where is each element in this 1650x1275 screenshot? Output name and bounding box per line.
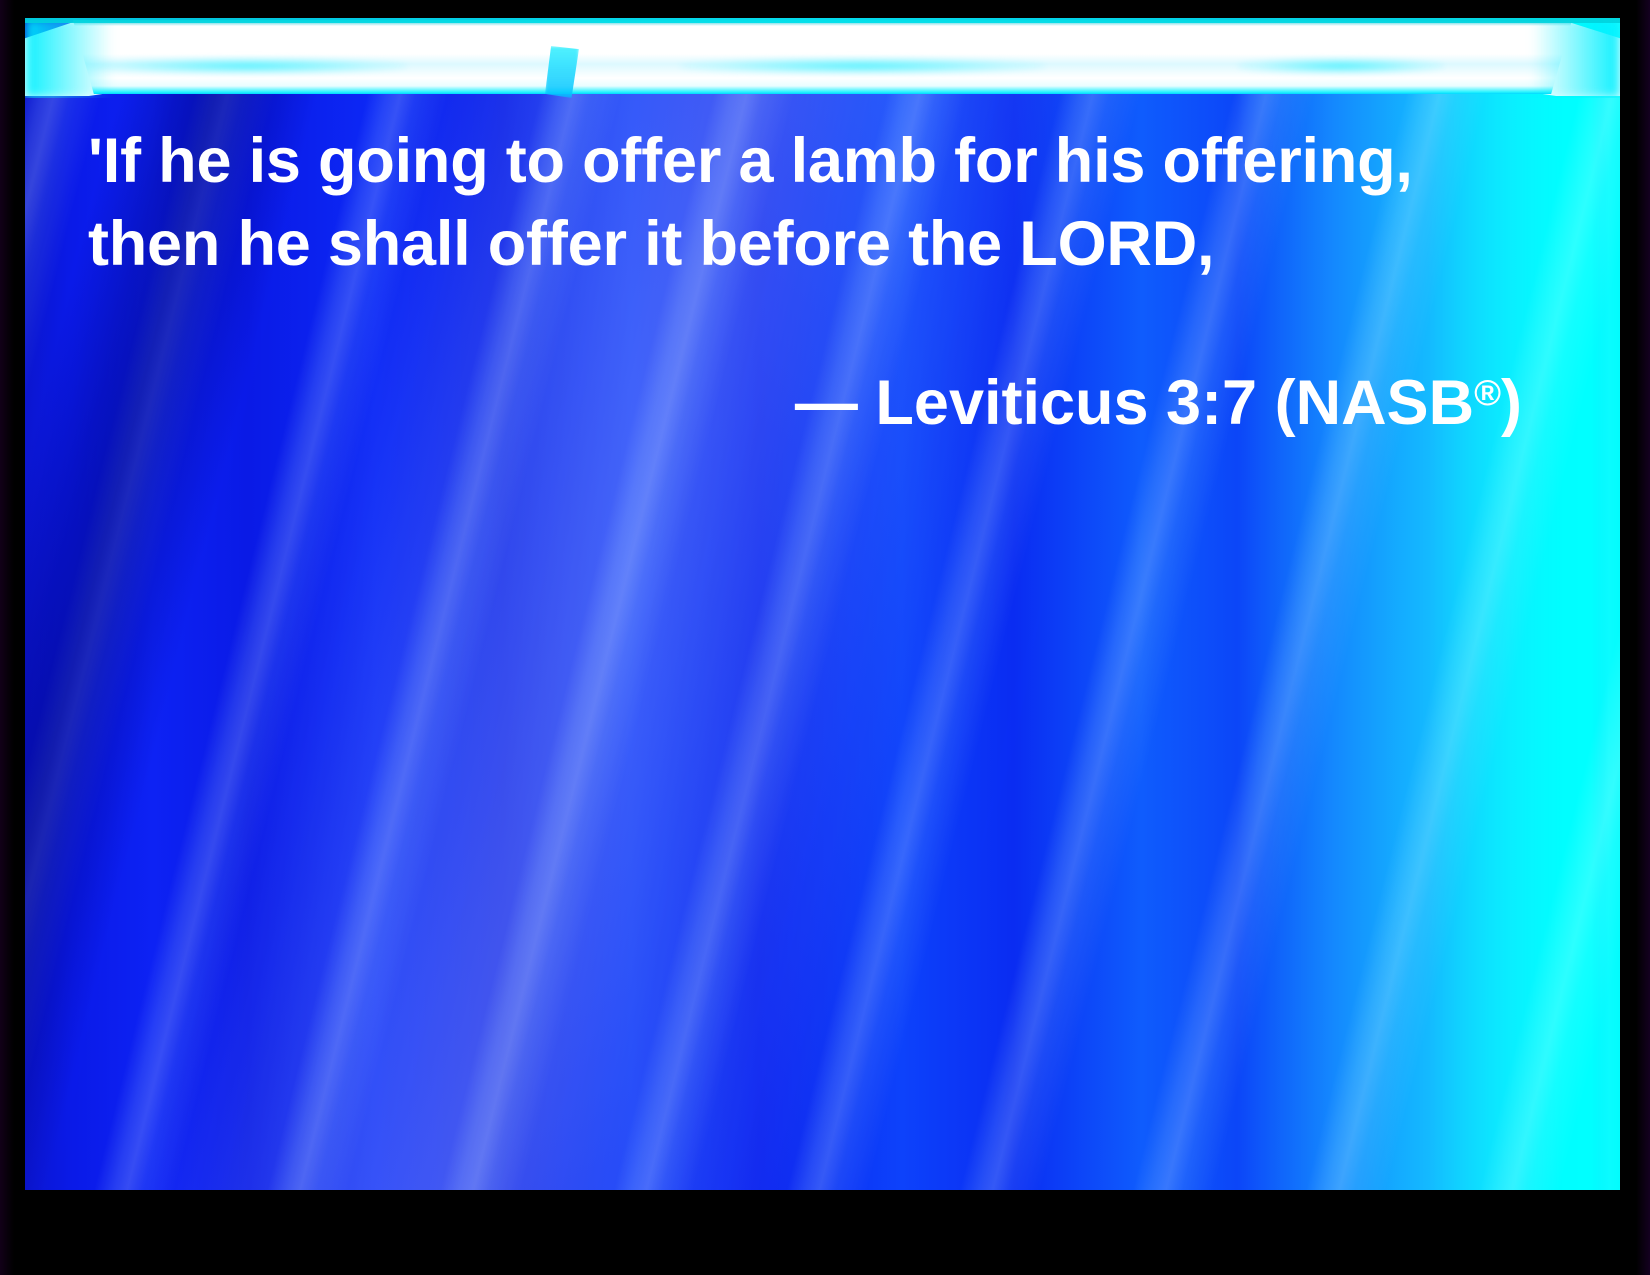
banner-wisp-center xyxy=(679,58,1046,74)
verse-block: 'If he is going to offer a lamb for his … xyxy=(88,120,1538,438)
top-banner-fill xyxy=(73,20,1572,94)
slide-frame: 'If he is going to offer a lamb for his … xyxy=(0,0,1650,1275)
verse-reference-prefix: — Leviticus 3:7 (NASB xyxy=(795,368,1474,438)
verse-reference: — Leviticus 3:7 (NASB®) xyxy=(88,286,1538,438)
banner-wisp-right xyxy=(1237,58,1444,74)
registered-trademark-icon: ® xyxy=(1474,372,1501,413)
slide-canvas: 'If he is going to offer a lamb for his … xyxy=(25,18,1620,1190)
verse-reference-suffix: ) xyxy=(1501,368,1522,438)
banner-top-edge-line xyxy=(25,18,1620,23)
verse-text: 'If he is going to offer a lamb for his … xyxy=(88,120,1538,286)
top-banner xyxy=(25,18,1620,98)
banner-halo-left xyxy=(25,18,135,98)
banner-wisp-left xyxy=(89,58,408,74)
banner-halo-right xyxy=(1510,18,1620,98)
